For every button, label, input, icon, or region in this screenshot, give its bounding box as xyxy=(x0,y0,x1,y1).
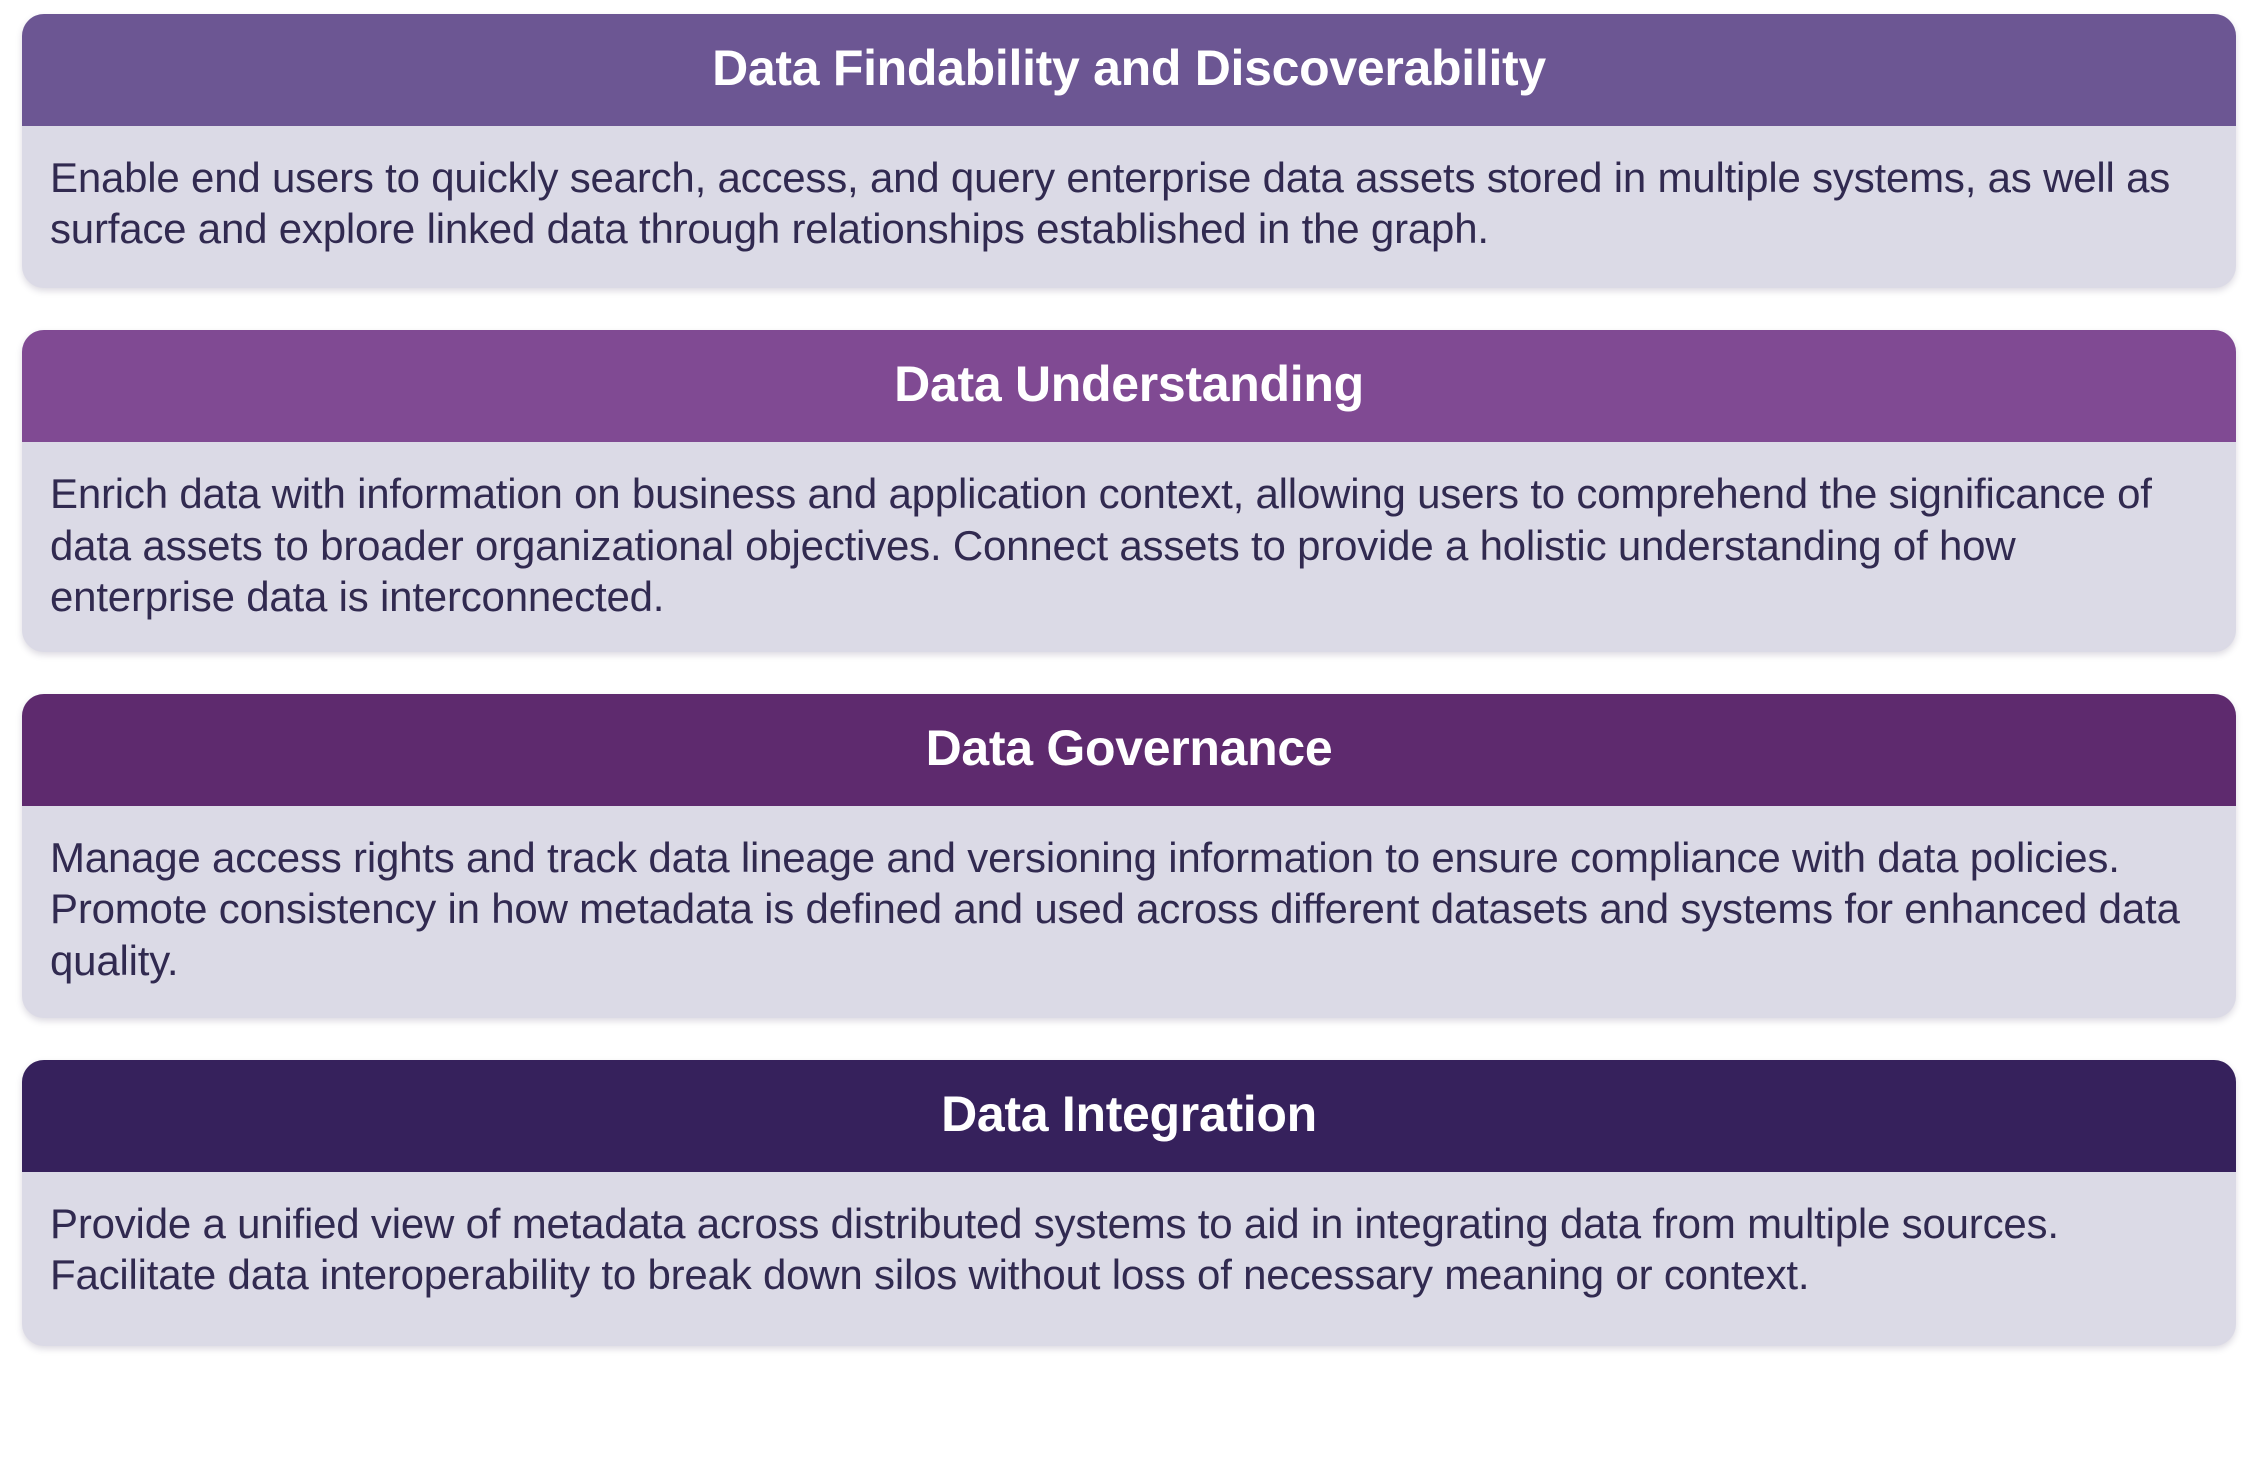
card-body-text: Enable end users to quickly search, acce… xyxy=(22,126,2236,288)
capability-cards-list: Data Findability and Discoverability Ena… xyxy=(22,14,2236,1446)
card-body-text: Manage access rights and track data line… xyxy=(22,806,2236,1018)
capability-card: Data Governance Manage access rights and… xyxy=(22,694,2236,1018)
capability-card: Data Findability and Discoverability Ena… xyxy=(22,14,2236,288)
card-header-title: Data Governance xyxy=(22,694,2236,806)
card-header-title: Data Integration xyxy=(22,1060,2236,1172)
card-body-text: Provide a unified view of metadata acros… xyxy=(22,1172,2236,1346)
card-header-title: Data Findability and Discoverability xyxy=(22,14,2236,126)
card-header-title: Data Understanding xyxy=(22,330,2236,442)
capability-card: Data Integration Provide a unified view … xyxy=(22,1060,2236,1346)
card-body-text: Enrich data with information on business… xyxy=(22,442,2236,652)
capability-card: Data Understanding Enrich data with info… xyxy=(22,330,2236,652)
